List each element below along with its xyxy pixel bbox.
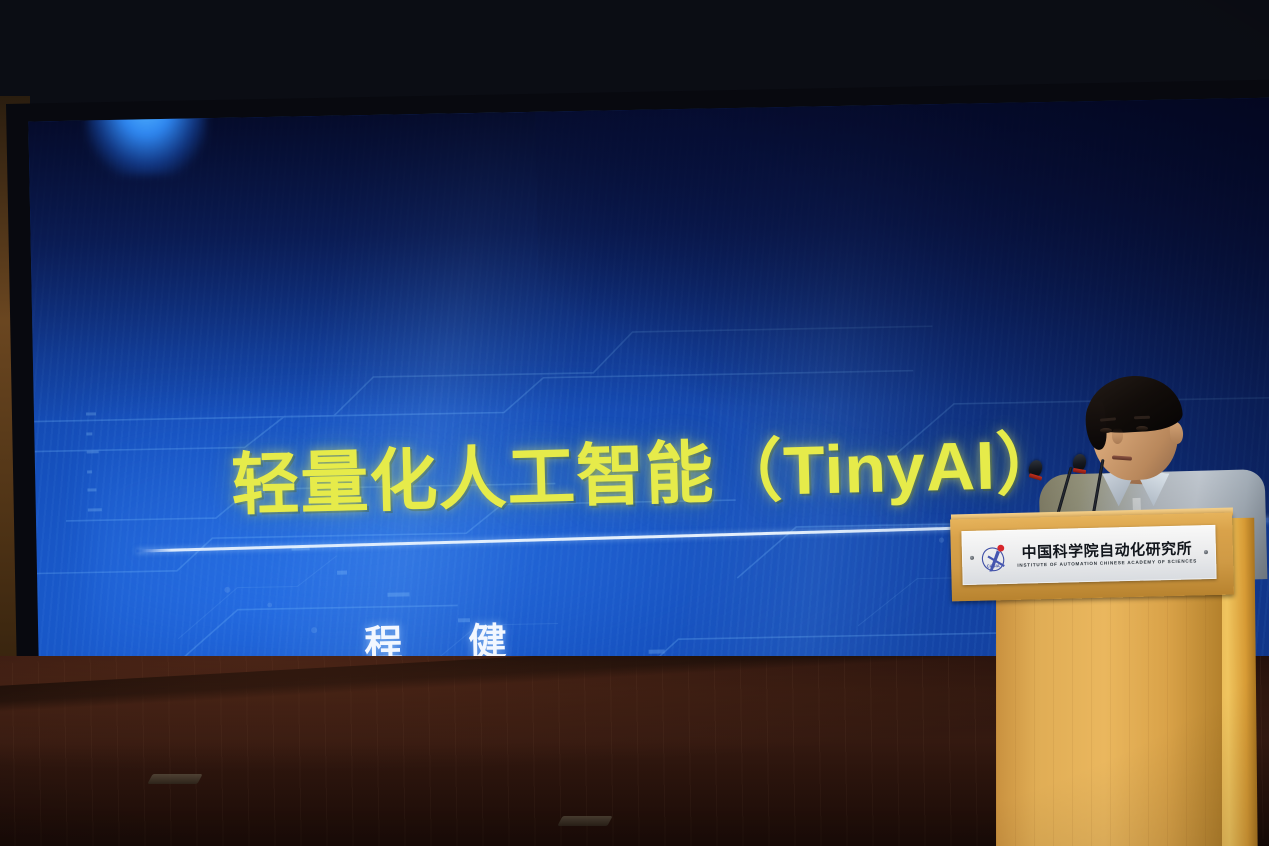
presenter-eyebrow-right xyxy=(1134,416,1150,420)
podium-wood-grain xyxy=(996,592,1222,846)
plaque-title-cn: 中国科学院自动化研究所 xyxy=(1021,541,1192,560)
svg-text:CASIA: CASIA xyxy=(987,563,1000,568)
plaque-screw-right xyxy=(1204,550,1208,554)
presenter-nose xyxy=(1112,428,1123,444)
podium-column xyxy=(996,592,1222,846)
presenter-eye-left xyxy=(1100,428,1112,433)
conference-photo-scene: 轻量化人工智能（TinyAI） 程 健 中国科学院自动化研究所 xyxy=(0,0,1269,846)
presenter-eye-right xyxy=(1136,426,1148,431)
plaque-screw-left xyxy=(970,556,974,560)
podium: CASIA 中国科学院自动化研究所 INSTITUTE OF AUTOMATIO… xyxy=(948,516,1258,846)
plaque-text-block: 中国科学院自动化研究所 INSTITUTE OF AUTOMATION CHIN… xyxy=(1016,541,1198,568)
spotlight-icon xyxy=(86,104,207,176)
casia-logo: CASIA xyxy=(980,540,1011,575)
microphone-ring xyxy=(1073,468,1086,474)
microphone-ring xyxy=(1029,473,1043,480)
podium-plaque: CASIA 中国科学院自动化研究所 INSTITUTE OF AUTOMATIO… xyxy=(961,525,1216,585)
presenter-hair-side xyxy=(1084,401,1108,451)
